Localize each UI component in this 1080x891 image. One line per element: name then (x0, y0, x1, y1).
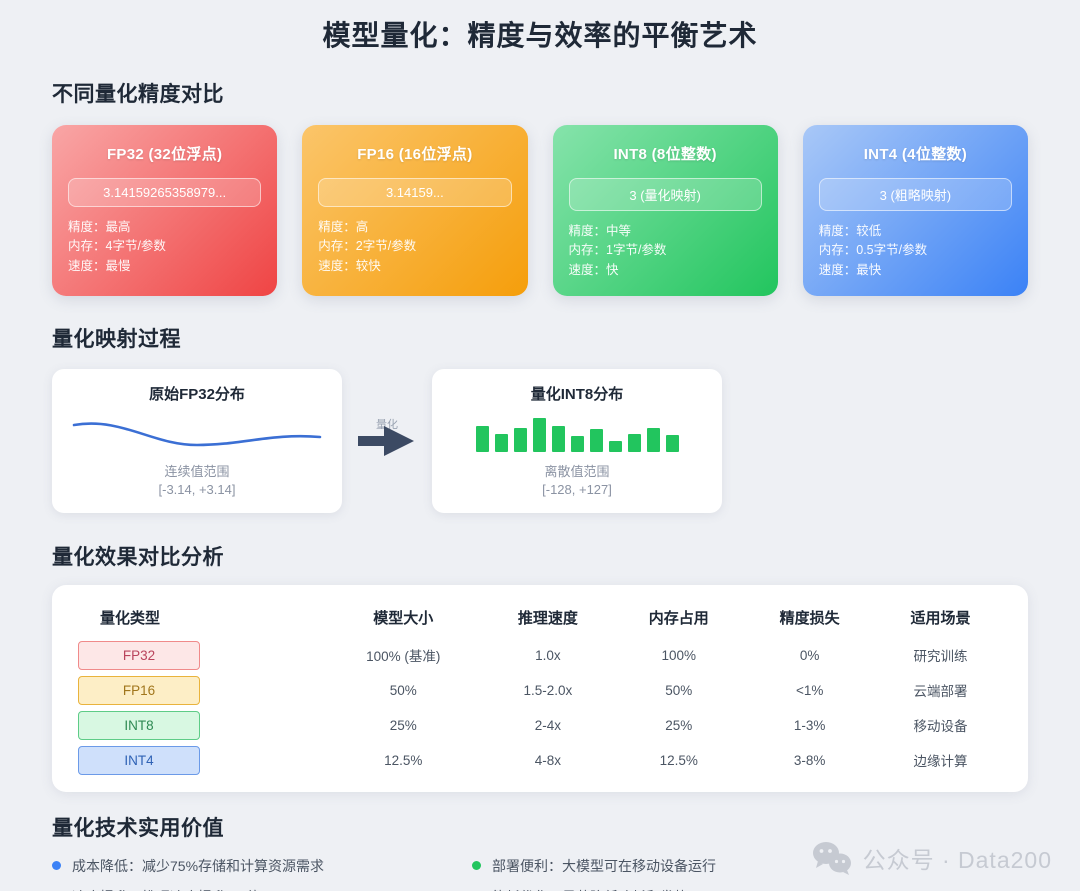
distribution-curve-icon (72, 411, 322, 451)
value-item-cost: 成本降低：减少75%存储和计算资源需求 (52, 856, 472, 876)
type-badge: FP16 (78, 676, 200, 705)
spec-memory: 内存：2字节/参数 (318, 237, 511, 256)
precision-card-specs: 精度：较低 内存：0.5字节/参数 速度：最快 (819, 222, 1012, 280)
cell-speed: 1.5-2.0x (482, 673, 613, 708)
quant-bar (476, 426, 489, 452)
section-title-mapping: 量化映射过程 (52, 323, 1028, 353)
watermark: 公众号 · Data200 (812, 841, 1052, 875)
cell-loss: <1% (744, 673, 875, 708)
cell-size: 50% (324, 673, 482, 708)
precision-card-specs: 精度：最高 内存：4字节/参数 速度：最慢 (68, 218, 261, 276)
page-title: 模型量化：精度与效率的平衡艺术 (52, 0, 1028, 54)
precision-card-value: 3 (粗略映射) (819, 178, 1012, 211)
column-header-memory: 内存占用 (613, 601, 744, 638)
source-distribution-range: [-3.14, +3.14] (70, 482, 324, 497)
precision-card-value: 3 (量化映射) (569, 178, 762, 211)
quant-bar (666, 435, 679, 452)
cell-scene: 移动设备 (875, 708, 1006, 743)
precision-card-row: FP32 (32位浮点) 3.14159265358979... 精度：最高 内… (52, 125, 1028, 296)
cell-speed: 1.0x (482, 638, 613, 673)
cell-type: INT8 (74, 708, 324, 743)
column-header-speed: 推理速度 (482, 601, 613, 638)
value-item-text: 速度提升：推理速度提升2-8倍 (72, 887, 260, 891)
cell-scene: 云端部署 (875, 673, 1006, 708)
type-badge: INT8 (78, 711, 200, 740)
value-item-energy: 能耗优化：显著降低功耗和发热 (472, 887, 1028, 891)
quant-bar (533, 418, 546, 452)
target-distribution-card: 量化INT8分布 离散值范围 [-128, +127] (432, 369, 722, 513)
section-title-values: 量化技术实用价值 (52, 812, 1028, 842)
cell-memory: 50% (613, 673, 744, 708)
quant-bar (628, 434, 641, 452)
section-title-precision: 不同量化精度对比 (52, 78, 1028, 108)
value-item-text: 部署便利：大模型可在移动设备运行 (492, 856, 716, 876)
column-header-loss: 精度损失 (744, 601, 875, 638)
precision-card-title: FP32 (32位浮点) (68, 143, 261, 164)
spec-accuracy: 精度：高 (318, 218, 511, 237)
cell-scene: 研究训练 (875, 638, 1006, 673)
spec-memory: 内存：0.5字节/参数 (819, 241, 1012, 260)
cell-type: FP16 (74, 673, 324, 708)
table-row: FP32 100% (基准) 1.0x 100% 0% 研究训练 (74, 638, 1006, 673)
cell-loss: 0% (744, 638, 875, 673)
precision-card-title: INT8 (8位整数) (569, 143, 762, 164)
source-distribution-subtitle: 连续值范围 (70, 462, 324, 482)
bullet-dot-icon (52, 861, 61, 870)
type-badge: FP32 (78, 641, 200, 670)
table-row: INT4 12.5% 4-8x 12.5% 3-8% 边缘计算 (74, 743, 1006, 778)
mapping-arrow: 量化 (342, 386, 432, 496)
target-distribution-subtitle: 离散值范围 (450, 462, 704, 482)
cell-size: 100% (基准) (324, 638, 482, 673)
quant-bar (495, 434, 508, 452)
table-header-row: 量化类型 模型大小 推理速度 内存占用 精度损失 适用场景 (74, 601, 1006, 638)
cell-size: 12.5% (324, 743, 482, 778)
type-badge: INT4 (78, 746, 200, 775)
cell-speed: 2-4x (482, 708, 613, 743)
mapping-row: 原始FP32分布 连续值范围 [-3.14, +3.14] 量化 量化INT8分… (52, 369, 1028, 513)
arrow-right-icon (358, 424, 416, 458)
mapping-section: 量化映射过程 原始FP32分布 连续值范围 [-3.14, +3.14] 量化 (52, 323, 1028, 513)
cell-size: 25% (324, 708, 482, 743)
wechat-icon (812, 841, 852, 875)
comparison-table: 量化类型 模型大小 推理速度 内存占用 精度损失 适用场景 FP32 100% … (74, 601, 1006, 778)
value-item-text: 成本降低：减少75%存储和计算资源需求 (72, 856, 324, 876)
cell-scene: 边缘计算 (875, 743, 1006, 778)
fp32-curve (70, 410, 324, 452)
precision-card-fp16[interactable]: FP16 (16位浮点) 3.14159... 精度：高 内存：2字节/参数 速… (302, 125, 527, 296)
spec-speed: 速度：快 (569, 261, 762, 280)
source-distribution-title: 原始FP32分布 (70, 383, 324, 404)
cell-loss: 3-8% (744, 743, 875, 778)
spec-accuracy: 精度：最高 (68, 218, 261, 237)
precision-card-value: 3.14159265358979... (68, 178, 261, 207)
quant-bar (590, 429, 603, 452)
column-header-scene: 适用场景 (875, 601, 1006, 638)
precision-section: 不同量化精度对比 FP32 (32位浮点) 3.14159265358979..… (52, 78, 1028, 296)
cell-loss: 1-3% (744, 708, 875, 743)
cell-speed: 4-8x (482, 743, 613, 778)
source-distribution-card: 原始FP32分布 连续值范围 [-3.14, +3.14] (52, 369, 342, 513)
table-row: INT8 25% 2-4x 25% 1-3% 移动设备 (74, 708, 1006, 743)
target-distribution-range: [-128, +127] (450, 482, 704, 497)
precision-card-value: 3.14159... (318, 178, 511, 207)
precision-card-int8[interactable]: INT8 (8位整数) 3 (量化映射) 精度：中等 内存：1字节/参数 速度：… (553, 125, 778, 296)
cell-memory: 100% (613, 638, 744, 673)
precision-card-title: INT4 (4位整数) (819, 143, 1012, 164)
precision-card-specs: 精度：中等 内存：1字节/参数 速度：快 (569, 222, 762, 280)
cell-type: FP32 (74, 638, 324, 673)
spec-speed: 速度：较快 (318, 257, 511, 276)
quant-bar (571, 436, 584, 452)
spec-accuracy: 精度：中等 (569, 222, 762, 241)
value-item-speed: 速度提升：推理速度提升2-8倍 (52, 887, 472, 891)
column-header-size: 模型大小 (324, 601, 482, 638)
bullet-dot-icon (472, 861, 481, 870)
int8-bars (450, 410, 704, 452)
spec-accuracy: 精度：较低 (819, 222, 1012, 241)
cell-memory: 12.5% (613, 743, 744, 778)
precision-card-int4[interactable]: INT4 (4位整数) 3 (粗略映射) 精度：较低 内存：0.5字节/参数 速… (803, 125, 1028, 296)
column-header-type: 量化类型 (74, 601, 324, 638)
spec-memory: 内存：1字节/参数 (569, 241, 762, 260)
target-distribution-title: 量化INT8分布 (450, 383, 704, 404)
precision-card-fp32[interactable]: FP32 (32位浮点) 3.14159265358979... 精度：最高 内… (52, 125, 277, 296)
slide-root: 模型量化：精度与效率的平衡艺术 不同量化精度对比 FP32 (32位浮点) 3.… (0, 0, 1080, 891)
spec-speed: 速度：最慢 (68, 257, 261, 276)
value-item-text: 能耗优化：显著降低功耗和发热 (492, 887, 688, 891)
watermark-text: 公众号 · Data200 (863, 841, 1052, 875)
table-row: FP16 50% 1.5-2.0x 50% <1% 云端部署 (74, 673, 1006, 708)
quant-bar (552, 426, 565, 452)
precision-card-title: FP16 (16位浮点) (318, 143, 511, 164)
quant-bar (609, 441, 622, 452)
spec-speed: 速度：最快 (819, 261, 1012, 280)
quant-bar (647, 428, 660, 452)
comparison-table-card: 量化类型 模型大小 推理速度 内存占用 精度损失 适用场景 FP32 100% … (52, 585, 1028, 792)
cell-type: INT4 (74, 743, 324, 778)
comparison-section: 量化效果对比分析 量化类型 模型大小 推理速度 内存占用 精度损失 适用场景 F… (52, 541, 1028, 792)
precision-card-specs: 精度：高 内存：2字节/参数 速度：较快 (318, 218, 511, 276)
spec-memory: 内存：4字节/参数 (68, 237, 261, 256)
section-title-table: 量化效果对比分析 (52, 541, 1028, 571)
quant-bar (514, 428, 527, 452)
cell-memory: 25% (613, 708, 744, 743)
